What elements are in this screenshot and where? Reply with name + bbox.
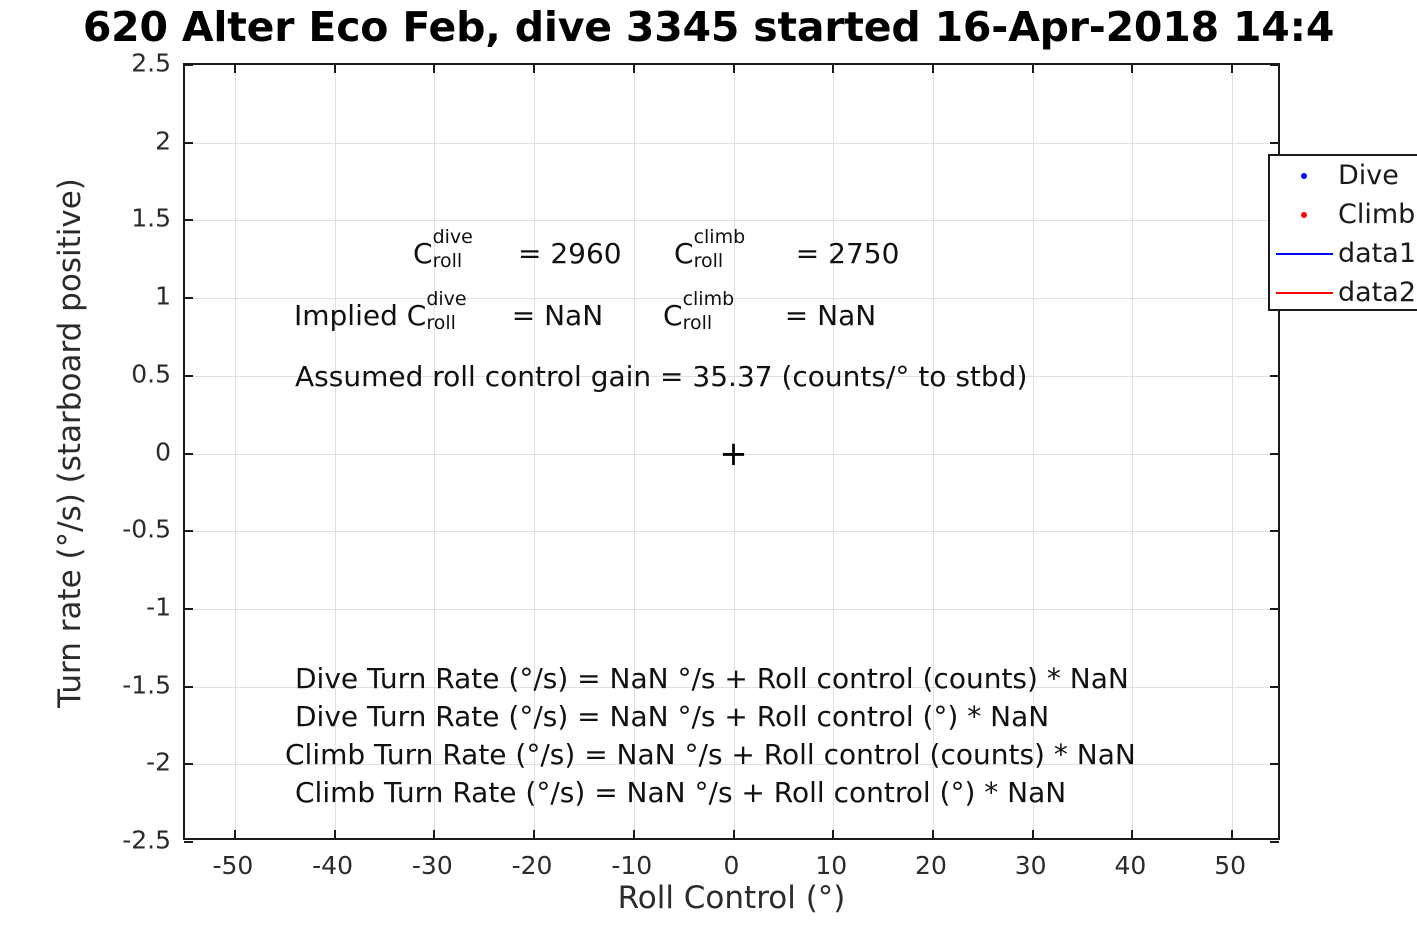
c-superscript-climb: climb xyxy=(694,228,746,247)
c-roll-climb-value: 2750 xyxy=(828,237,899,270)
x-tick-label: 10 xyxy=(815,851,847,880)
x-tick-top xyxy=(433,64,435,73)
x-tick-top xyxy=(533,64,535,73)
legend-item-data1[interactable]: data1 xyxy=(1270,234,1417,273)
implied-climb-value: NaN xyxy=(817,299,876,332)
gridline-vertical xyxy=(1232,65,1233,838)
x-tick-top xyxy=(334,64,336,73)
c-superscript-implied-climb: climb xyxy=(683,290,735,309)
y-tick xyxy=(184,841,193,843)
annotation-c-roll-dive: Cdiveroll= 2960 xyxy=(413,240,622,268)
legend-item-dive[interactable]: Dive xyxy=(1270,156,1417,195)
c-glyph-climb: C xyxy=(674,237,694,270)
x-tick xyxy=(1131,830,1133,839)
x-tick xyxy=(1231,830,1233,839)
legend-swatch-climb xyxy=(1270,195,1338,234)
x-tick-top xyxy=(832,64,834,73)
x-tick xyxy=(433,830,435,839)
c-superscript-dive: dive xyxy=(433,228,473,247)
legend-dot-marker-icon xyxy=(1301,212,1307,218)
x-axis-label: Roll Control (°) xyxy=(183,880,1280,916)
c-symbol-climb: Cclimbroll xyxy=(674,240,694,268)
x-tick xyxy=(932,830,934,839)
legend-label: Climb xyxy=(1338,201,1415,228)
x-tick-top xyxy=(1131,64,1133,73)
x-tick xyxy=(832,830,834,839)
y-tick xyxy=(184,219,193,221)
legend-item-climb[interactable]: Climb xyxy=(1270,195,1417,234)
y-tick xyxy=(184,453,193,455)
y-tick-label: 0.5 xyxy=(59,359,171,388)
x-tick-top xyxy=(1231,64,1233,73)
annotation-eq-climb-deg: Climb Turn Rate (°/s) = NaN °/s + Roll c… xyxy=(295,779,1066,807)
annotation-implied-dive: Implied Cdiveroll= NaN xyxy=(294,302,603,330)
c-subscript-climb: roll xyxy=(694,252,724,271)
implied-dive-value: NaN xyxy=(544,299,603,332)
implied-prefix: Implied xyxy=(294,299,407,332)
annotation-eq-dive-deg: Dive Turn Rate (°/s) = NaN °/s + Roll co… xyxy=(295,703,1049,731)
title-container: 620 Alter Eco Feb, dive 3345 started 16-… xyxy=(0,0,1417,56)
x-tick-top xyxy=(1032,64,1034,73)
y-tick-label: -2 xyxy=(59,748,171,777)
c-glyph-dive: C xyxy=(413,237,433,270)
y-tick-label: 1 xyxy=(59,282,171,311)
c-glyph-implied-dive: C xyxy=(407,299,427,332)
annotation-implied-climb: Cclimbroll= NaN xyxy=(663,302,876,330)
x-tick-label: -10 xyxy=(611,851,652,880)
y-tick xyxy=(184,686,193,688)
y-tick-right xyxy=(1270,841,1279,843)
chart-legend[interactable]: DiveClimbdata1data2 xyxy=(1268,154,1417,311)
legend-label: Dive xyxy=(1338,162,1399,189)
y-tick-label: 0 xyxy=(59,437,171,466)
y-tick-right xyxy=(1270,453,1279,455)
y-tick-label: -1 xyxy=(59,592,171,621)
gridline-vertical xyxy=(1132,65,1133,838)
c-symbol-dive: Cdiveroll xyxy=(413,240,433,268)
x-tick-label: 50 xyxy=(1214,851,1246,880)
equals-climb: = xyxy=(796,237,819,270)
legend-line-marker-icon xyxy=(1276,253,1333,255)
c-roll-dive-value: 2960 xyxy=(550,237,621,270)
legend-swatch-data1 xyxy=(1270,234,1338,273)
gridline-horizontal xyxy=(185,220,1278,221)
x-tick-top xyxy=(633,64,635,73)
y-tick xyxy=(184,608,193,610)
x-tick xyxy=(234,830,236,839)
gridline-vertical xyxy=(235,65,236,838)
gridline-horizontal xyxy=(185,531,1278,532)
equals-implied-climb: = xyxy=(785,299,808,332)
annotation-gain: Assumed roll control gain = 35.37 (count… xyxy=(295,363,1027,391)
equals-dive: = xyxy=(518,237,541,270)
plot-area: + Cdiveroll= 2960 Cclimbroll= 2750 Impli… xyxy=(183,63,1280,840)
y-tick-right xyxy=(1270,608,1279,610)
legend-line-marker-icon xyxy=(1276,292,1333,294)
y-tick-label: 1.5 xyxy=(59,204,171,233)
y-tick-right xyxy=(1270,686,1279,688)
y-tick xyxy=(184,64,193,66)
y-tick-label: -0.5 xyxy=(59,515,171,544)
y-tick-right xyxy=(1270,375,1279,377)
figure-canvas: 620 Alter Eco Feb, dive 3345 started 16-… xyxy=(0,0,1417,945)
x-tick-top xyxy=(932,64,934,73)
y-tick-right xyxy=(1270,142,1279,144)
x-tick-label: 30 xyxy=(1015,851,1047,880)
c-subscript-implied-climb: roll xyxy=(683,314,713,333)
c-subscript-implied-dive: roll xyxy=(426,314,456,333)
annotation-c-roll-climb: Cclimbroll= 2750 xyxy=(674,240,899,268)
x-tick-label: 0 xyxy=(724,851,740,880)
gridline-horizontal xyxy=(185,609,1278,610)
x-tick-label: -40 xyxy=(312,851,353,880)
y-tick-label: 2.5 xyxy=(59,49,171,78)
y-tick xyxy=(184,142,193,144)
y-tick xyxy=(184,530,193,532)
legend-label: data2 xyxy=(1338,279,1416,306)
x-tick xyxy=(533,830,535,839)
y-tick-right xyxy=(1270,530,1279,532)
x-tick xyxy=(334,830,336,839)
equals-implied-dive: = xyxy=(512,299,535,332)
x-tick-label: -20 xyxy=(512,851,553,880)
x-tick-label: 40 xyxy=(1115,851,1147,880)
legend-swatch-dive xyxy=(1270,156,1338,195)
x-tick-top xyxy=(733,64,735,73)
c-glyph-implied-climb: C xyxy=(663,299,683,332)
y-tick xyxy=(184,297,193,299)
legend-swatch-data2 xyxy=(1270,273,1338,312)
y-tick xyxy=(184,375,193,377)
c-subscript-dive: roll xyxy=(433,252,463,271)
y-tick-right xyxy=(1270,763,1279,765)
y-tick-label: -1.5 xyxy=(59,670,171,699)
c-superscript-implied-dive: dive xyxy=(426,290,466,309)
page-title: 620 Alter Eco Feb, dive 3345 started 16-… xyxy=(83,1,1334,53)
annotation-eq-dive-counts: Dive Turn Rate (°/s) = NaN °/s + Roll co… xyxy=(295,665,1129,693)
y-tick-right xyxy=(1270,64,1279,66)
x-tick-top xyxy=(234,64,236,73)
c-symbol-implied-climb: Cclimbroll xyxy=(663,302,683,330)
x-tick xyxy=(1032,830,1034,839)
legend-label: data1 xyxy=(1338,240,1416,267)
legend-item-data2[interactable]: data2 xyxy=(1270,273,1417,312)
x-tick-label: -30 xyxy=(412,851,453,880)
x-tick xyxy=(733,830,735,839)
x-tick-label: 20 xyxy=(915,851,947,880)
legend-dot-marker-icon xyxy=(1301,173,1307,179)
origin-crosshair-marker: + xyxy=(719,437,748,471)
y-tick-label: -2.5 xyxy=(59,826,171,855)
c-symbol-implied-dive: Cdiveroll xyxy=(407,302,427,330)
annotation-eq-climb-counts: Climb Turn Rate (°/s) = NaN °/s + Roll c… xyxy=(285,741,1136,769)
gridline-horizontal xyxy=(185,143,1278,144)
y-tick xyxy=(184,763,193,765)
x-tick-label: -50 xyxy=(212,851,253,880)
x-tick xyxy=(633,830,635,839)
y-tick-label: 2 xyxy=(59,126,171,155)
